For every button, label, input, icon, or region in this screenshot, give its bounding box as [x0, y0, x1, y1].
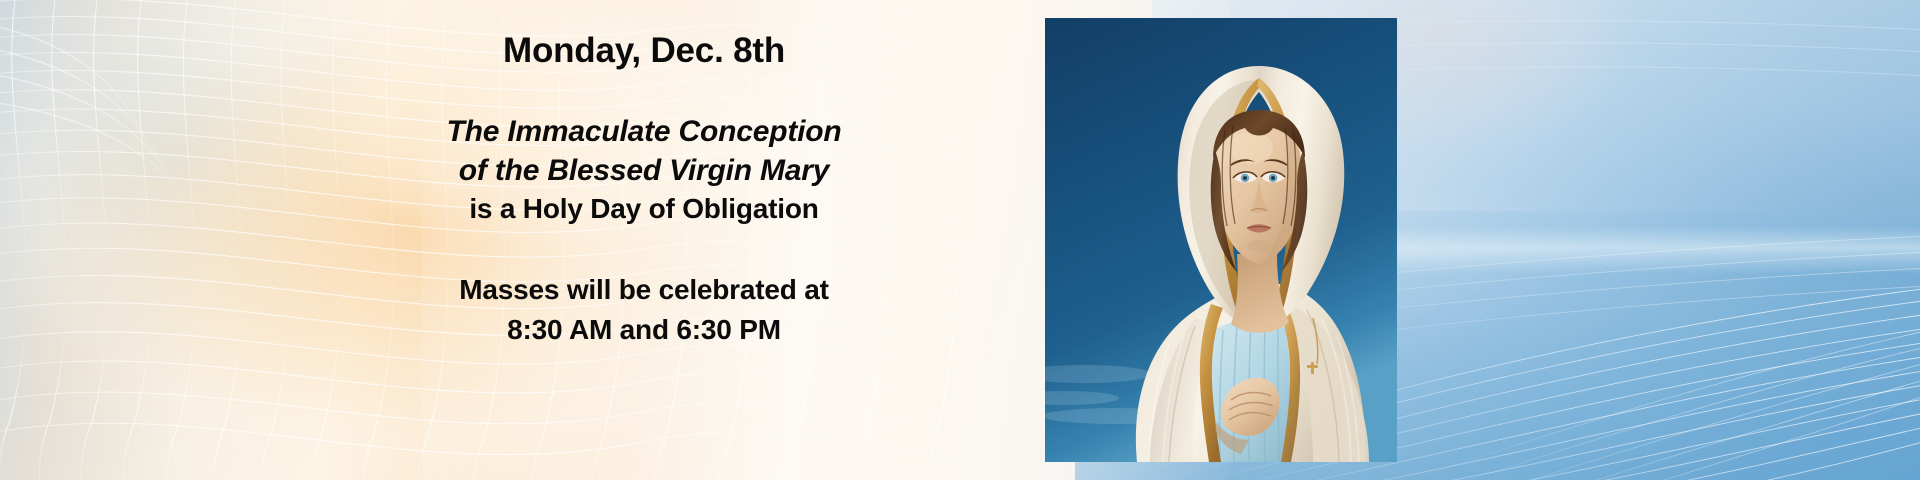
mass-times-line-1: Masses will be celebrated at [459, 274, 828, 305]
parish-announcement-banner: Monday, Dec. 8th The Immaculate Concepti… [0, 0, 1920, 480]
feast-title-line-2: of the Blessed Virgin Mary [446, 152, 841, 190]
announcement-headline: Monday, Dec. 8th [503, 30, 785, 71]
mass-times-line-2: 8:30 AM and 6:30 PM [459, 310, 828, 350]
holy-day-obligation-line: is a Holy Day of Obligation [469, 191, 818, 227]
virgin-mary-statue-photo [1045, 18, 1397, 462]
background-mesh-texture [0, 0, 1920, 480]
feast-title-line-1: The Immaculate Conception [446, 115, 841, 148]
mass-times-block: Masses will be celebrated at 8:30 AM and… [459, 270, 828, 350]
announcement-text-block: Monday, Dec. 8th The Immaculate Concepti… [396, 0, 892, 480]
feast-title: The Immaculate Conception of the Blessed… [446, 113, 841, 190]
